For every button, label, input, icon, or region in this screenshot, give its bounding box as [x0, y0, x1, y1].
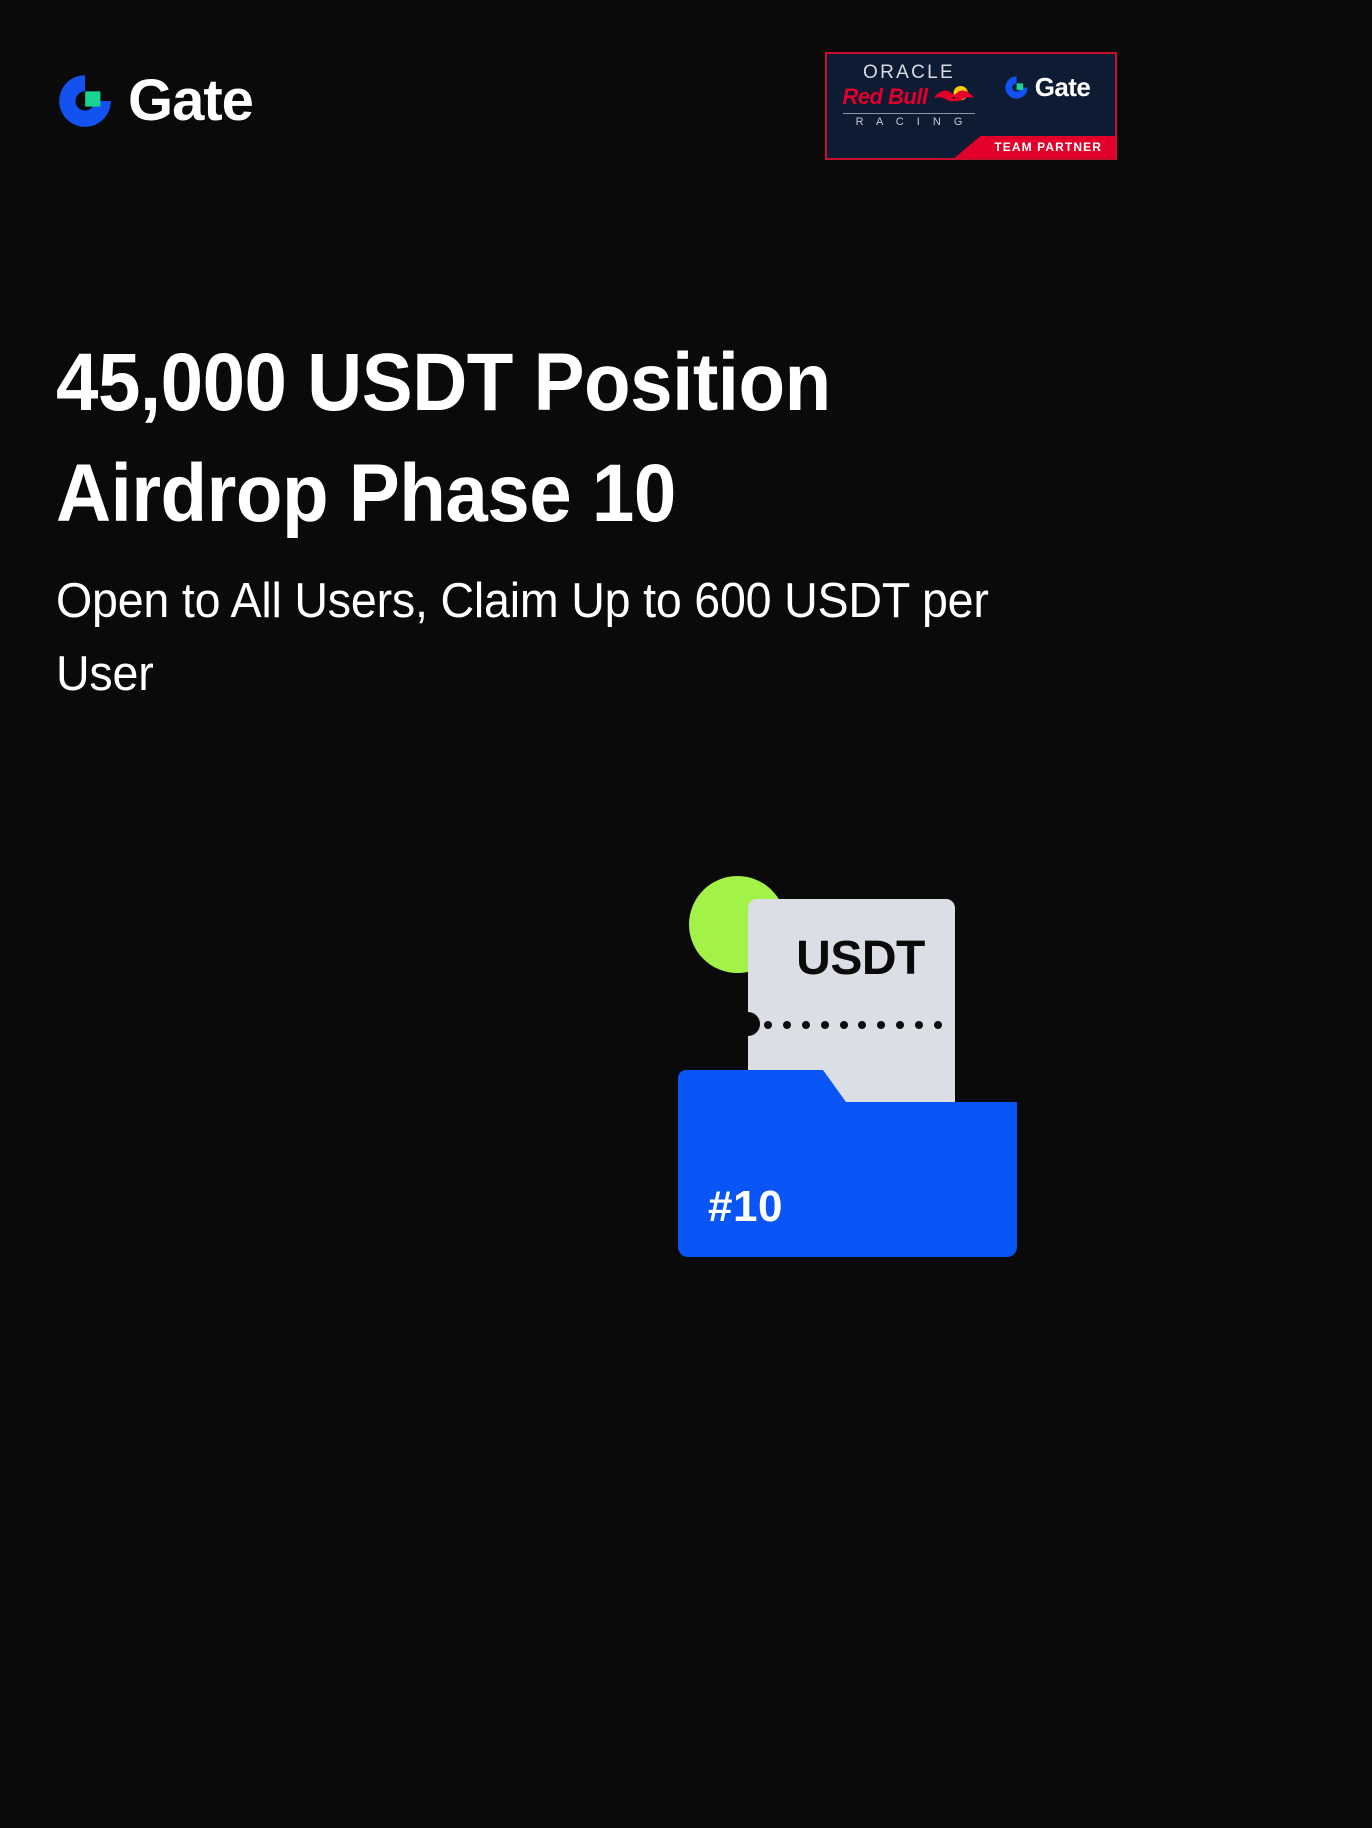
badge-divider — [843, 113, 975, 114]
promo-banner-page: Gate ORACLE Red Bull R A C I N — [0, 0, 1372, 1828]
red-bull-text: Red Bull — [842, 86, 927, 108]
perforation-dot — [896, 1021, 904, 1029]
perforation-dot — [858, 1021, 866, 1029]
page-title: 45,000 USDT Position Airdrop Phase 10 — [56, 327, 893, 550]
voucher-perforation-line — [764, 1021, 942, 1029]
racing-text: R A C I N G — [839, 117, 979, 128]
gate-logo-icon — [1004, 75, 1029, 100]
perforation-dot — [821, 1021, 829, 1029]
perforation-dot — [764, 1021, 772, 1029]
perforation-dot — [840, 1021, 848, 1029]
perforation-dot — [877, 1021, 885, 1029]
oracle-text: ORACLE — [839, 63, 979, 82]
gate-logo-icon — [56, 72, 114, 130]
gate-brand-logo[interactable]: Gate — [56, 72, 253, 130]
red-bull-row: Red Bull — [839, 85, 979, 109]
perforation-dot — [915, 1021, 923, 1029]
voucher-currency-label: USDT — [748, 935, 955, 983]
oracle-red-bull-racing-lockup: ORACLE Red Bull R A C I N G — [827, 54, 979, 128]
perforation-dot — [802, 1021, 810, 1029]
badge-gate-lockup: Gate — [979, 54, 1115, 100]
team-partner-badge: ORACLE Red Bull R A C I N G — [825, 52, 1117, 160]
usdt-voucher-folder-illustration: USDT #10 — [678, 872, 1023, 1267]
perforation-dot — [783, 1021, 791, 1029]
team-partner-label: TEAM PARTNER — [954, 136, 1115, 158]
page-subtitle: Open to All Users, Claim Up to 600 USDT … — [56, 565, 1073, 710]
perforation-dot — [934, 1021, 942, 1029]
badge-gate-wordmark: Gate — [1035, 74, 1090, 100]
phase-number-label: #10 — [708, 1185, 783, 1229]
gate-wordmark: Gate — [128, 72, 253, 130]
voucher-notch — [736, 1012, 760, 1036]
red-bull-charging-bulls-icon — [932, 85, 976, 109]
